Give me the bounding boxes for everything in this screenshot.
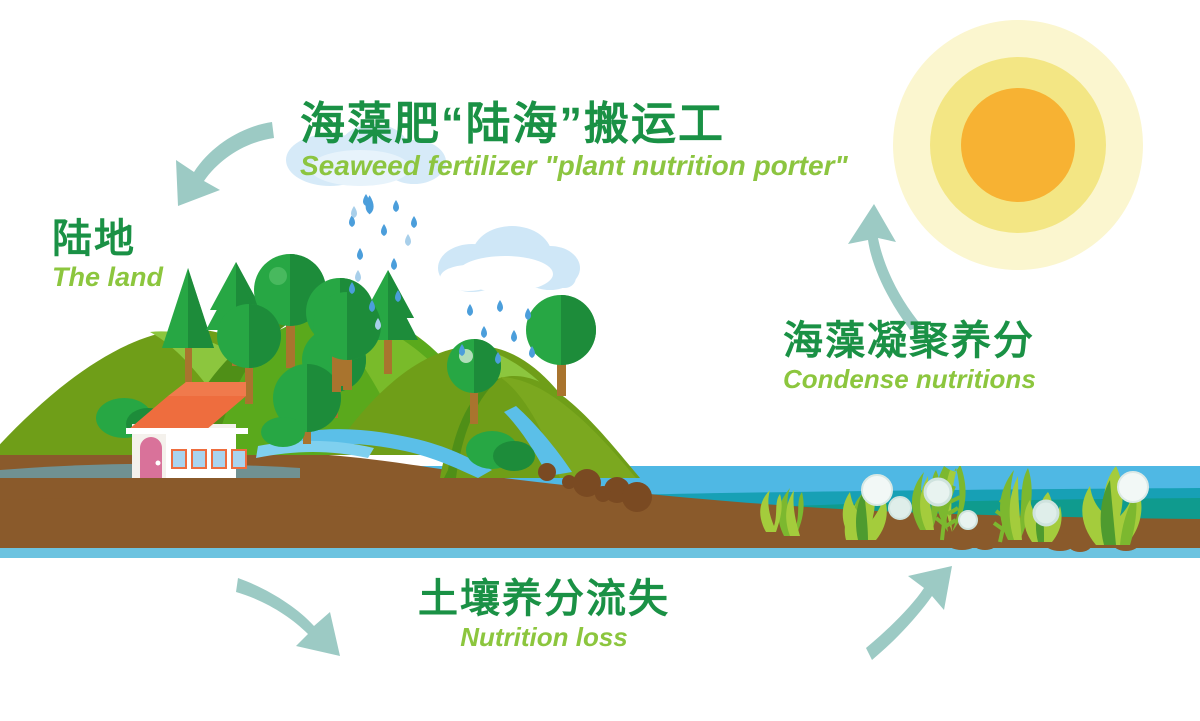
label-condense-zh: 海藻凝聚养分 (783, 320, 1036, 362)
arrow-land-to-title (176, 122, 274, 206)
sun-icon (893, 20, 1143, 270)
label-land: 陆地 The land (52, 218, 163, 293)
bush (261, 417, 305, 447)
label-land-en: The land (52, 262, 163, 293)
arrow-runoff-to-sea (848, 204, 922, 330)
house-window (172, 450, 186, 468)
house-window (192, 450, 206, 468)
title-block: 海藻肥“陆海”搬运工 Seaweed fertilizer "plant nut… (300, 100, 848, 182)
house-window (212, 450, 226, 468)
label-loss-en: Nutrition loss (418, 623, 670, 653)
label-condense-en: Condense nutritions (783, 365, 1036, 395)
arrow-land-to-runoff (236, 578, 340, 656)
infographic-root: 海藻肥“陆海”搬运工 Seaweed fertilizer "plant nut… (0, 0, 1200, 721)
house-window (232, 450, 246, 468)
label-condense: 海藻凝聚养分 Condense nutritions (783, 320, 1036, 395)
label-loss-zh: 土壤养分流失 (418, 578, 670, 620)
title-en: Seaweed fertilizer "plant nutrition port… (300, 150, 848, 182)
arrow-sea-to-sun (866, 566, 952, 660)
cloud-right (438, 226, 580, 292)
label-land-zh: 陆地 (52, 218, 163, 260)
title-zh: 海藻肥“陆海”搬运工 (300, 100, 848, 147)
label-loss: 土壤养分流失 Nutrition loss (418, 578, 670, 653)
